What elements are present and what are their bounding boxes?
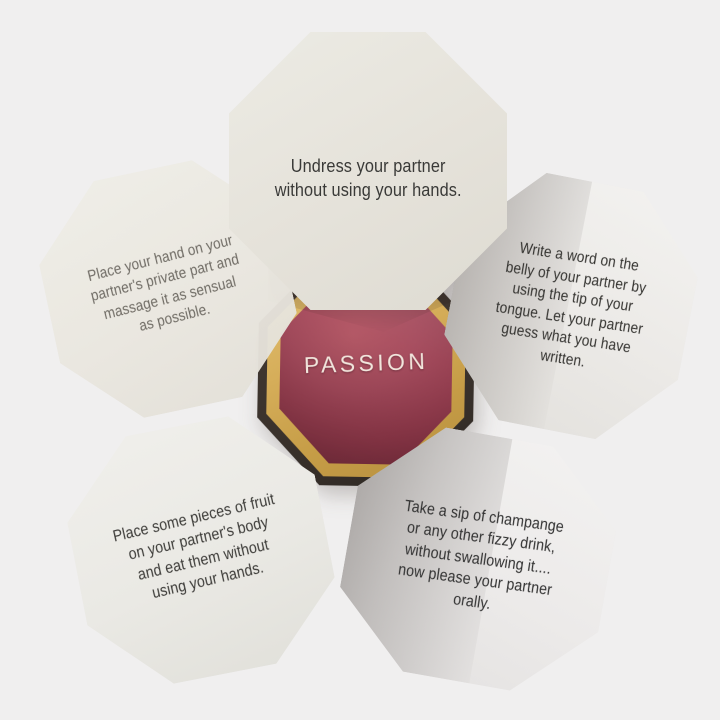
card-bottom-left-text: Place some pieces of fruit on your partn… <box>99 486 303 613</box>
card-bottom-right-text: Take a sip of champange or any other fiz… <box>380 494 575 624</box>
scene-canvas: PASSION Place your hand on your partner'… <box>0 0 720 720</box>
card-left-text: Place your hand on your partner's privat… <box>71 227 265 351</box>
card-top-text: Undress your partner without using your … <box>255 154 481 203</box>
card-right-text: Write a word on the belly of your partne… <box>475 235 666 383</box>
card-top[interactable]: Undress your partner without using your … <box>229 32 507 310</box>
